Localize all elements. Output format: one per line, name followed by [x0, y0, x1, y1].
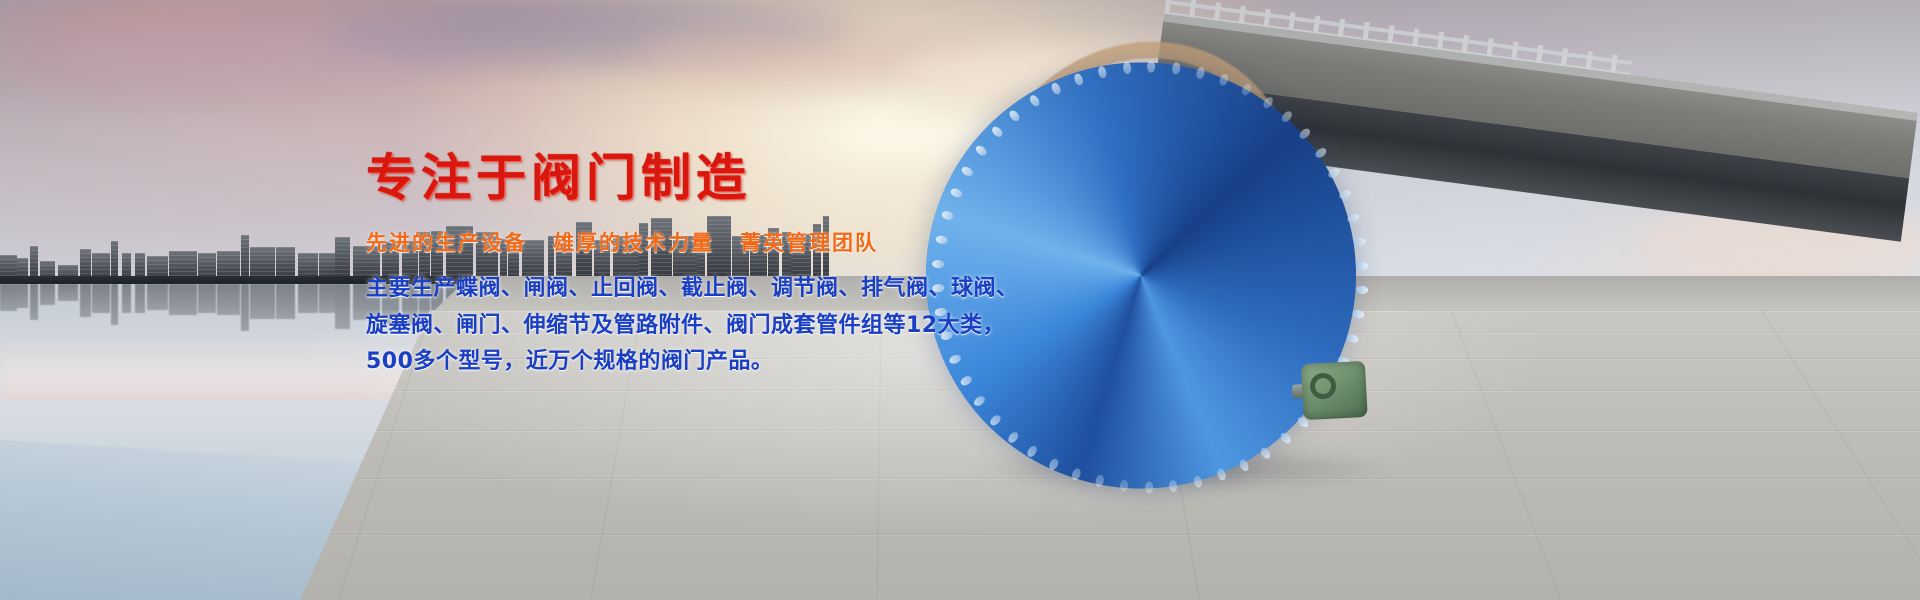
building	[92, 284, 110, 313]
building	[30, 284, 38, 320]
building	[111, 284, 118, 325]
building	[198, 284, 216, 313]
building	[241, 235, 249, 282]
building	[250, 284, 275, 319]
subtitle-part-3: 菁英管理团队	[740, 231, 878, 255]
building	[319, 284, 335, 313]
building	[135, 284, 145, 313]
building	[122, 284, 131, 313]
building	[298, 284, 318, 313]
building	[169, 284, 197, 315]
valve-handwheel-icon	[1309, 372, 1336, 399]
valve-gearbox-actuator	[1301, 361, 1368, 420]
body-line-3: 500多个型号，近万个规格的阀门产品。	[366, 344, 966, 381]
building	[217, 284, 240, 315]
building	[80, 284, 91, 317]
flange-bolt-hole	[1314, 146, 1328, 160]
banner-text-block: 专注于阀门制造 先进的生产设备雄厚的技术力量菁英管理团队 主要生产蝶阀、闸阀、止…	[366, 152, 966, 381]
building	[58, 284, 78, 301]
subtitle-part-2: 雄厚的技术力量	[553, 231, 714, 255]
building	[147, 284, 168, 310]
page-title: 专注于阀门制造	[366, 152, 966, 205]
banner-body-text: 主要生产蝶阀、闸阀、止回阀、截止阀、调节阀、排气阀、球阀、 旋塞阀、闸门、伸缩节…	[366, 271, 966, 381]
body-line-2: 旋塞阀、闸门、伸缩节及管路附件、阀门成套管件组等12大类，	[366, 308, 966, 345]
flange-bolt-hole	[1278, 431, 1292, 445]
building	[241, 284, 249, 331]
building	[0, 284, 17, 311]
subtitle-part-1: 先进的生产设备	[366, 231, 527, 255]
banner-subtitle: 先进的生产设备雄厚的技术力量菁英管理团队	[366, 227, 966, 257]
blue-flanged-butterfly-valve	[950, 70, 1350, 479]
flange-bolt-hole	[1145, 481, 1153, 493]
building	[276, 284, 295, 319]
body-line-1: 主要生产蝶阀、闸阀、止回阀、截止阀、调节阀、排气阀、球阀、	[366, 271, 966, 308]
banner-root: 专注于阀门制造 先进的生产设备雄厚的技术力量菁英管理团队 主要生产蝶阀、闸阀、止…	[0, 0, 1920, 600]
building	[17, 284, 28, 308]
building	[40, 284, 55, 305]
